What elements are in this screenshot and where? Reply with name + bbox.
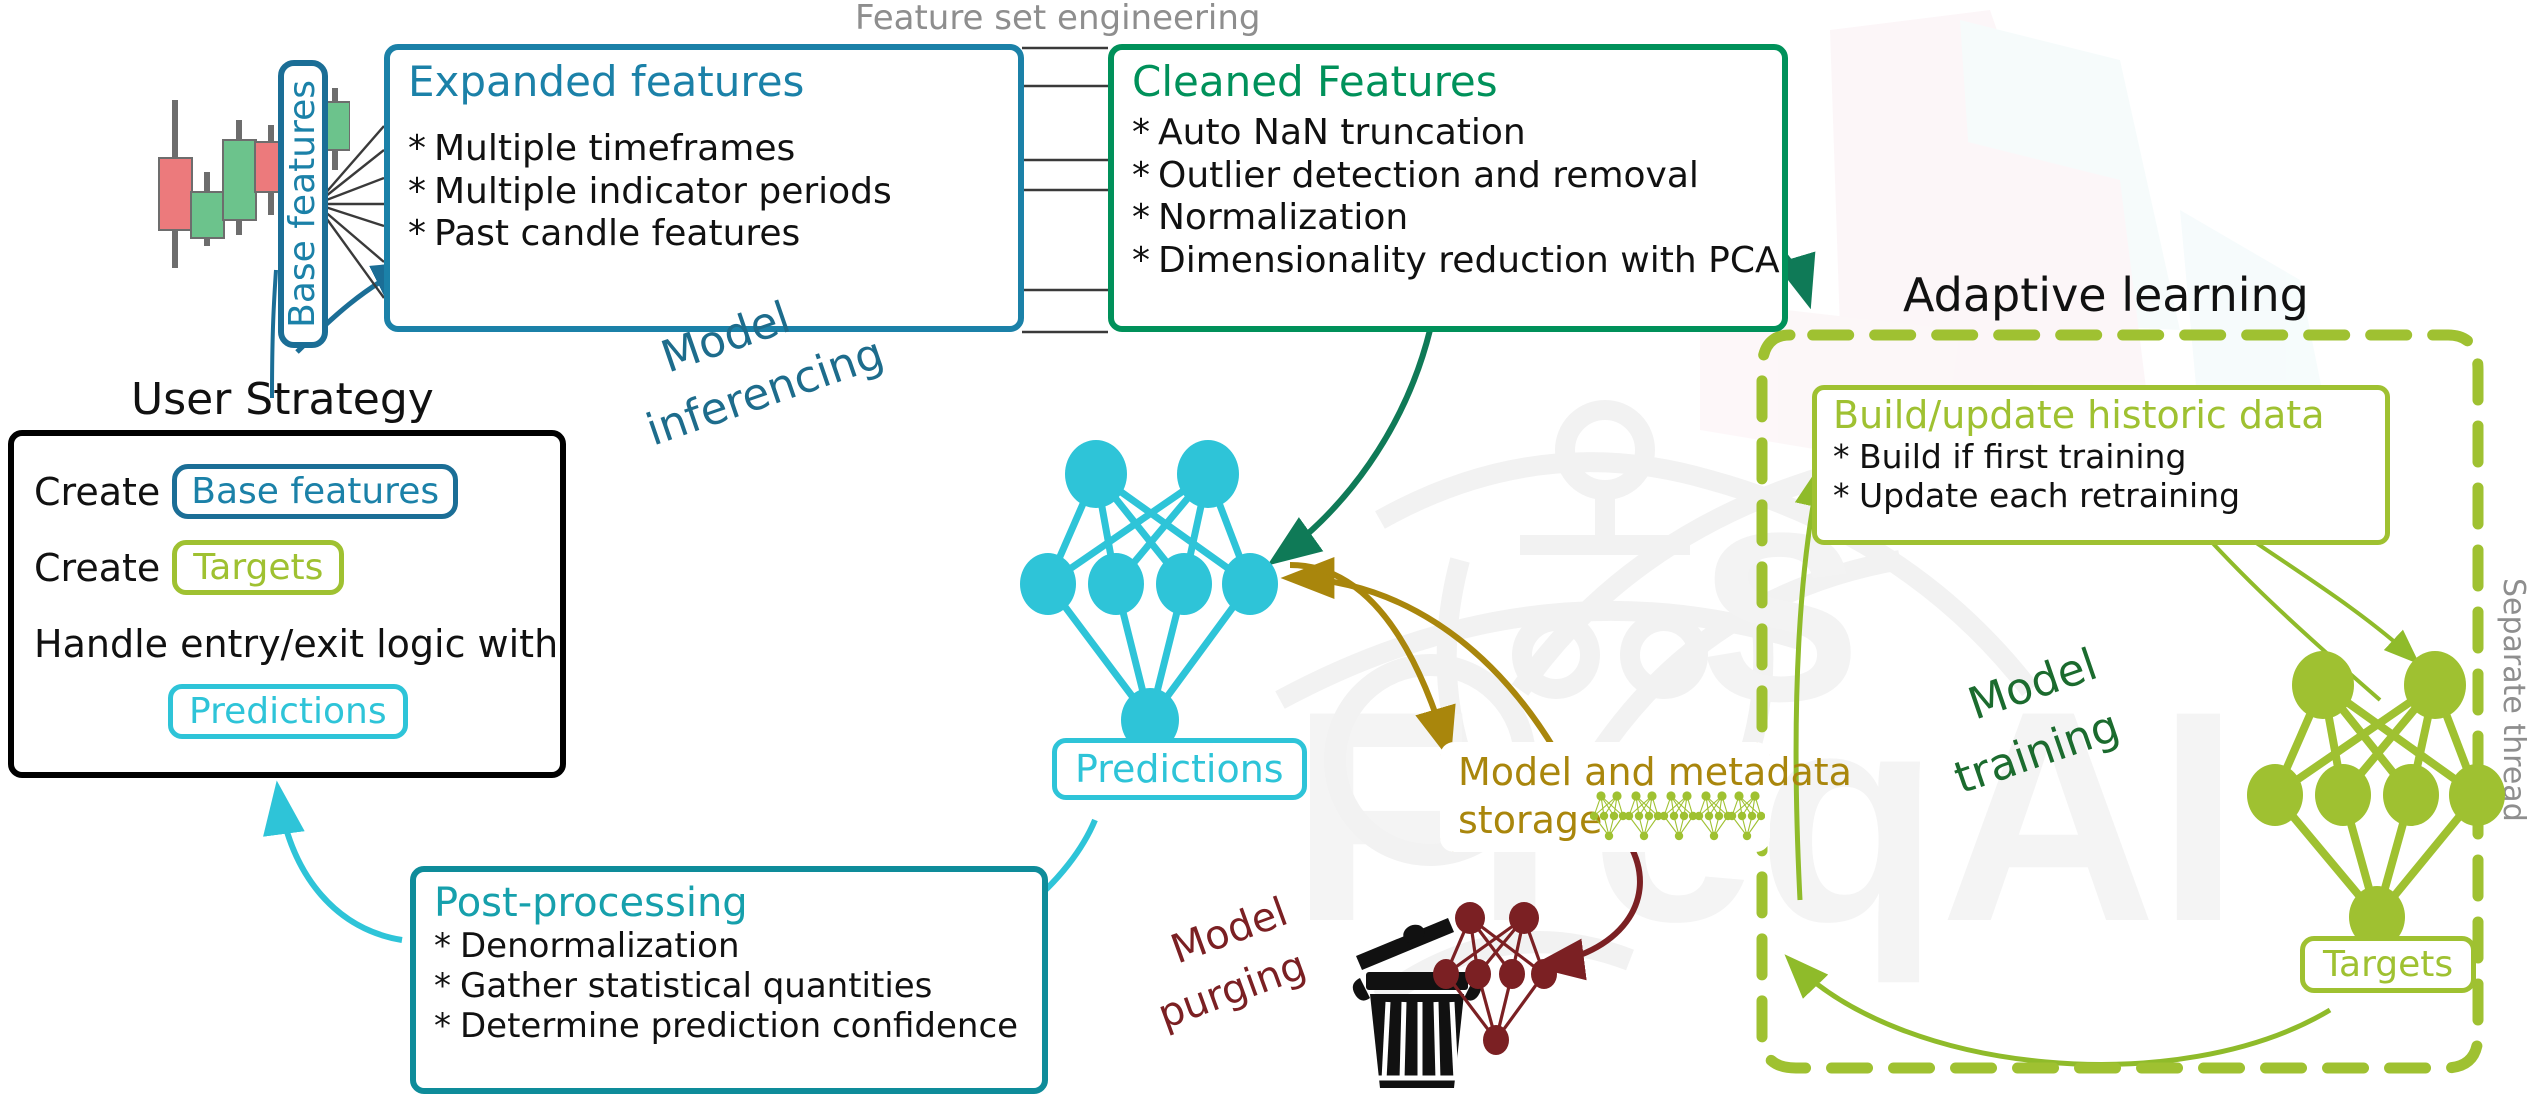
adaptive-learning-label: Adaptive learning bbox=[1903, 268, 2309, 322]
build-update-bullets: *Build if first training *Update each re… bbox=[1817, 438, 2385, 516]
targets-pill[interactable]: Targets bbox=[2300, 936, 2476, 993]
base-features-pill[interactable]: Base features bbox=[278, 60, 328, 348]
cleaned-features-bullets: *Auto NaN truncation *Outlier detection … bbox=[1114, 112, 1782, 282]
create-base-features-label: Create bbox=[34, 470, 160, 514]
list-item: *Multiple indicator periods bbox=[408, 171, 1018, 213]
post-processing-bullets: *Denormalization *Gather statistical qua… bbox=[416, 926, 1042, 1046]
list-item: *Auto NaN truncation bbox=[1132, 112, 1782, 154]
neural-network-green-icon bbox=[2245, 645, 2517, 955]
model-storage-title-line1: Model and metadata bbox=[1458, 750, 1852, 794]
cleaned-features-box[interactable]: Cleaned Features *Auto NaN truncation *O… bbox=[1108, 44, 1788, 332]
list-item: *Determine prediction confidence bbox=[434, 1006, 1042, 1046]
user-strategy-line-3: Handle entry/exit logic with bbox=[34, 622, 558, 666]
list-item: *Outlier detection and removal bbox=[1132, 155, 1782, 197]
predictions-inline-pill[interactable]: Predictions bbox=[168, 684, 408, 739]
list-item: *Denormalization bbox=[434, 926, 1042, 966]
list-item: *Build if first training bbox=[1833, 438, 2385, 477]
expanded-features-box[interactable]: Expanded features *Multiple timeframes *… bbox=[384, 44, 1024, 332]
build-update-title: Build/update historic data bbox=[1833, 396, 2385, 436]
post-processing-box[interactable]: Post-processing *Denormalization *Gather… bbox=[410, 866, 1048, 1094]
user-strategy-box[interactable]: Create Base features Create Targets Hand… bbox=[8, 430, 566, 778]
model-storage-title-line2: storage bbox=[1458, 798, 1602, 842]
expanded-features-title: Expanded features bbox=[408, 60, 1018, 104]
user-strategy-line-1: Create Base features bbox=[34, 464, 458, 519]
base-features-label: Base features bbox=[285, 80, 321, 328]
feature-set-engineering-label: Feature set engineering bbox=[855, 0, 1261, 38]
cleaned-features-title: Cleaned Features bbox=[1132, 60, 1782, 104]
create-targets-label: Create bbox=[34, 546, 160, 590]
list-item: *Dimensionality reduction with PCA bbox=[1132, 240, 1782, 282]
targets-inline-pill[interactable]: Targets bbox=[172, 540, 344, 595]
user-strategy-title: User Strategy bbox=[131, 374, 434, 425]
diagram-canvas: S FreqAI bbox=[0, 0, 2539, 1104]
build-update-box[interactable]: Build/update historic data *Build if fir… bbox=[1812, 385, 2390, 545]
neural-network-purged-icon bbox=[1432, 900, 1564, 1060]
expanded-features-bullets: *Multiple timeframes *Multiple indicator… bbox=[390, 128, 1018, 255]
neural-network-cyan-icon bbox=[1018, 432, 1290, 762]
list-item: *Update each retraining bbox=[1833, 477, 2385, 516]
post-processing-title: Post-processing bbox=[434, 882, 1042, 924]
list-item: *Normalization bbox=[1132, 197, 1782, 239]
base-features-inline-pill[interactable]: Base features bbox=[172, 464, 458, 519]
list-item: *Multiple timeframes bbox=[408, 128, 1018, 170]
stored-models-icon bbox=[1590, 790, 1765, 842]
user-strategy-line-2: Create Targets bbox=[34, 540, 344, 595]
list-item: *Gather statistical quantities bbox=[434, 966, 1042, 1006]
predictions-pill[interactable]: Predictions bbox=[1052, 738, 1307, 800]
list-item: *Past candle features bbox=[408, 213, 1018, 255]
